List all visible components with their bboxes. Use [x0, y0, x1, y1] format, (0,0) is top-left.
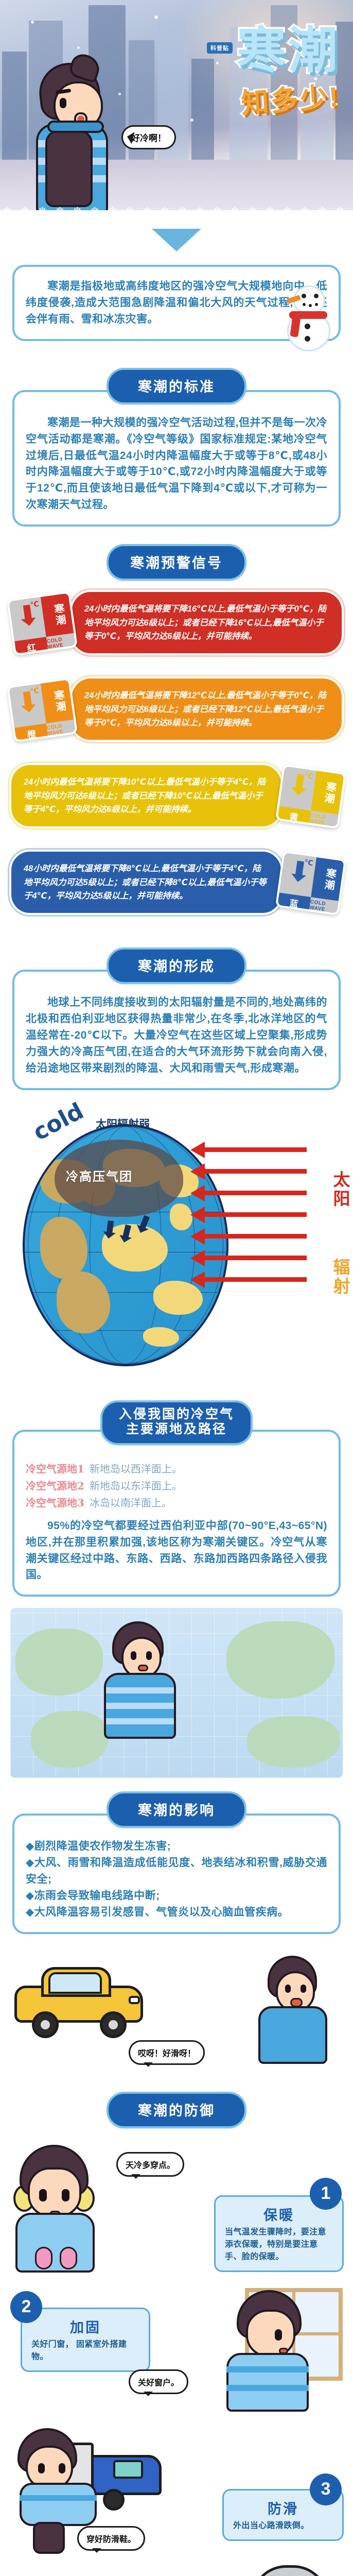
sign-unit: ℃	[30, 600, 40, 609]
cold-wave-sign-orange: ⬇℃ 寒潮 橙 COLD WAVE	[7, 677, 78, 742]
formation-card: 地球上不同纬度接收到的太阳辐射量是不同的,地处高纬的北极和西伯利亚地区获得热量非…	[12, 970, 341, 1090]
cold-high-pressure-label: 冷高压气团	[66, 1166, 133, 1184]
warning-red: ⬇℃ 寒潮 红 COLD WAVE 24小时内最低气温将要下降16℃以上,最低气…	[9, 590, 344, 667]
down-arrow-icon	[152, 229, 201, 251]
snowflake-dot	[216, 62, 219, 64]
hero-speech-bubble: 好冷啊！	[121, 125, 176, 149]
defense-section: 寒潮的防御	[12, 2092, 341, 2128]
sources-title-line2: 主要源地及路径	[126, 1422, 227, 1436]
cold-wave-sign-blue: ⬇℃ 寒潮 蓝 COLD WAVE	[275, 851, 346, 916]
infographic-page: 好冷啊！ 科普贴 寒潮 知多少! ❄❄ ❄❄ ❄❄ ❄❄ ❄❄ ❄❄ ❄❄ ❄❄…	[0, 0, 353, 2576]
standard-section: 寒潮的标准 寒潮是一种大规模的强冷空气活动过程,但并不是每一次冷空气活动都是寒潮…	[12, 368, 341, 527]
hero-title-group: 科普贴 寒潮 知多少!	[237, 27, 340, 118]
warning-text-orange: 24小时内最低气温将要下降12℃以上,最低气温小于等于0℃，陆地平均风力可达6级…	[70, 676, 344, 742]
defense-number-3: 3	[310, 2473, 342, 2505]
bullet-icon: ◆	[26, 1890, 34, 1902]
intro-text: 寒潮是指极地或高纬度地区的强冷空气大规模地向中、低纬度侵袭,造成大范围急剧降温和…	[26, 278, 327, 328]
defense-number-1: 1	[310, 2178, 342, 2210]
slipping-person	[254, 1956, 331, 2064]
defense-item-2: 2 加固 关好门窗， 固紧室外搭建物。 关好窗户。	[0, 2286, 353, 2415]
impact-item: ◆冻雨会导致输电线路中断;	[26, 1888, 327, 1904]
defense-speech-text-2: 关好窗户。	[138, 2379, 179, 2387]
path-map-illustration	[10, 1608, 343, 1778]
car-scene-speech-text: 哎呀！好滑呀！	[138, 2049, 196, 2058]
source-item: 冷空气源地3 冰岛以南洋面上。	[26, 1495, 327, 1510]
defense-number-2: 2	[10, 2291, 42, 2323]
source-value: 冰岛以南洋面上。	[90, 1495, 172, 1510]
snowflake-dot	[31, 21, 34, 24]
defense-item-4: 我身体不好，就不出门了。 4 防病 老弱病人， 特别是心血管病人、哮喘病人等对气…	[0, 2562, 353, 2576]
radiation-label: 辐射	[331, 1258, 349, 1296]
sun-label: 太阳	[331, 1171, 349, 1209]
map-boy-character	[101, 1621, 178, 1740]
impact-item: ◆大风、雨雪和降温造成低能见度、地表结冰和积雪,威胁交通安全;	[26, 1855, 327, 1888]
building	[2, 52, 27, 160]
sign-unit: ℃	[30, 686, 40, 696]
car-slip-scene: 哎呀！好滑呀！	[0, 1942, 353, 2071]
earth-globe: 冷高压气团 ⬇ ⬇ ⬇	[23, 1124, 228, 1366]
bullet-icon: ◆	[26, 1840, 34, 1852]
source-key: 冷空气源地3	[26, 1495, 84, 1510]
source-value: 新地岛以东洋面上。	[90, 1478, 182, 1493]
sign-label: 寒潮	[41, 592, 78, 637]
warning-text-yellow: 24小时内最低气温将要下降10℃以上,最低气温小于等于4℃，陆地平均风力可达6级…	[9, 763, 283, 828]
solar-radiation-rays	[204, 1130, 307, 1299]
defense-item-3: 穿好防滑鞋。 3 防滑 外出当心路滑跌倒。	[0, 2424, 353, 2553]
defense-speech-3: 穿好防滑鞋。	[77, 2526, 145, 2551]
cold-wave-sign-red: ⬇℃ 寒潮 红 COLD WAVE	[7, 591, 78, 656]
defense-speech-text-1: 天冷多穿点。	[126, 2161, 175, 2170]
defense-title: 寒潮的防御	[107, 2092, 246, 2128]
formation-section: 寒潮的形成 地球上不同纬度接收到的太阳辐射量是不同的,地处高纬的北极和西伯利亚地…	[12, 947, 341, 1090]
defense-item-1: 天冷多穿点。 1 保暖 当气温发生骤降时，要注意添衣保暖，特别是要注意手、脸的保…	[0, 2138, 353, 2277]
defense-speech-text-3: 穿好防滑鞋。	[86, 2535, 136, 2544]
bullet-icon: ◆	[26, 1857, 34, 1869]
warning-yellow: ⬇℃ 寒潮 黄 COLD WAVE 24小时内最低气温将要下降10℃以上,最低气…	[9, 763, 344, 840]
intro-section: 寒潮是指极地或高纬度地区的强冷空气大规模地向中、低纬度侵袭,造成大范围急剧降温和…	[12, 265, 341, 341]
hero-banner: 好冷啊！ 科普贴 寒潮 知多少!	[0, 0, 353, 222]
sources-section: 入侵我国的冷空气 主要源地及路径 冷空气源地1 新地岛以西洋面上。 冷空气源地2…	[12, 1400, 341, 1597]
defense-speech-1: 天冷多穿点。	[116, 2152, 184, 2177]
source-key: 冷空气源地2	[26, 1478, 84, 1493]
hero-title-main: 寒潮	[237, 27, 340, 74]
sign-label: 寒潮	[41, 679, 78, 723]
snowflake-dot	[190, 118, 193, 122]
source-value: 新地岛以西洋面上。	[90, 1461, 182, 1476]
impact-text: 大风降温容易引发感冒、气管炎以及心脑血管疾病。	[34, 1906, 289, 1918]
defense-card-2: 加固 关好门窗， 固紧室外搭建物。	[21, 2308, 150, 2372]
sign-label: 寒潮	[311, 771, 346, 815]
sign-unit: ℃	[304, 858, 313, 868]
building	[191, 59, 214, 160]
defense-char-4	[226, 2565, 345, 2576]
backpack	[45, 130, 93, 207]
warning-text-red: 24小时内最低气温将要下降16℃以上,最低气温小于等于0℃，陆地平均风力可达6级…	[70, 590, 344, 655]
standard-text: 寒潮是一种大规模的强冷空气活动过程,但并不是每一次冷空气活动都是寒潮。《冷空气等…	[26, 415, 327, 513]
scarf	[47, 121, 104, 133]
impact-item: ◆大风降温容易引发感冒、气管炎以及心脑血管疾病。	[26, 1904, 327, 1921]
formation-title: 寒潮的形成	[107, 947, 246, 984]
defense-card-title-2: 加固	[31, 2316, 139, 2336]
car-illustration	[14, 1967, 143, 2034]
defense-card-body-3: 外出当心路滑跌倒。	[233, 2520, 333, 2532]
sources-card: 冷空气源地1 新地岛以西洋面上。 冷空气源地2 新地岛以东洋面上。 冷空气源地3…	[12, 1430, 341, 1597]
globe-diagram: cold 太阳辐射弱 冷高压气团 ⬇ ⬇ ⬇	[0, 1104, 353, 1397]
defense-card-body-1: 当气温发生骤降时，要注意添衣保暖，特别是要注意手、脸的保暖。	[225, 2226, 333, 2263]
sources-text: 95%的冷空气都要经过西伯利亚中部(70~90°E,43~65°N)地区,并在那…	[26, 1518, 327, 1584]
bullet-icon: ◆	[26, 1906, 34, 1918]
warning-text-blue: 48小时内最低气温将要下降8℃以上,最低气温小于等于4℃，陆地平均风力可达5级以…	[9, 850, 283, 915]
impact-text: 冻雨会导致输电线路中断;	[34, 1890, 160, 1902]
hero-badge: 科普贴	[207, 42, 233, 54]
formation-text: 地球上不同纬度接收到的太阳辐射量是不同的,地处高纬的北极和西伯利亚地区获得热量非…	[26, 994, 327, 1077]
defense-speech-2: 关好窗户。	[129, 2369, 188, 2394]
boy-character	[30, 63, 122, 217]
source-key: 冷空气源地1	[26, 1461, 84, 1476]
source-item: 冷空气源地1 新地岛以西洋面上。	[26, 1461, 327, 1476]
snowflake-dot	[154, 15, 158, 19]
sources-title: 入侵我国的冷空气 主要源地及路径	[100, 1400, 253, 1445]
impacts-card: ◆剧烈降温使农作物发生冻害; ◆大风、雨雪和降温造成低能见度、地表结冰和积雪,威…	[12, 1814, 341, 1934]
warning-blue: ⬇℃ 寒潮 蓝 COLD WAVE 48小时内最低气温将要下降8℃以上,最低气温…	[9, 850, 344, 927]
impacts-title: 寒潮的影响	[107, 1791, 246, 1828]
impact-text: 剧烈降温使农作物发生冻害;	[34, 1840, 171, 1852]
hero-title-sub: 知多少!	[235, 74, 341, 122]
standard-title: 寒潮的标准	[107, 368, 246, 404]
defense-card-body-2: 关好门窗， 固紧室外搭建物。	[31, 2338, 139, 2363]
standard-card: 寒潮是一种大规模的强冷空气活动过程,但并不是每一次冷空气活动都是寒潮。《冷空气等…	[12, 390, 341, 527]
warnings-section: 寒潮预警信号	[12, 544, 341, 581]
defense-char-2	[214, 2288, 343, 2412]
sources-title-line1: 入侵我国的冷空气	[119, 1407, 234, 1421]
hero-speech-text: 好冷啊！	[131, 133, 166, 143]
cold-high-pressure-mass: 冷高压气团	[55, 1140, 183, 1217]
impact-item: ◆剧烈降温使农作物发生冻害;	[26, 1838, 327, 1855]
cold-wave-sign-yellow: ⬇℃ 寒潮 黄 COLD WAVE	[275, 764, 346, 829]
snow-edge-divider: ❄❄ ❄❄ ❄❄ ❄❄ ❄❄ ❄❄ ❄❄ ❄❄ ❄❄ ❄❄	[0, 210, 353, 222]
source-item: 冷空气源地2 新地岛以东洋面上。	[26, 1478, 327, 1493]
eye	[60, 98, 66, 108]
sign-label: 寒潮	[311, 857, 346, 902]
warning-orange: ⬇℃ 寒潮 橙 COLD WAVE 24小时内最低气温将要下降12℃以上,最低气…	[9, 676, 344, 754]
car-scene-speech-bubble: 哎呀！好滑呀！	[129, 2040, 205, 2065]
impact-text: 大风、雨雪和降温造成低能见度、地表结冰和积雪,威胁交通安全;	[26, 1857, 327, 1885]
warnings-title: 寒潮预警信号	[107, 544, 246, 581]
impacts-section: 寒潮的影响 ◆剧烈降温使农作物发生冻害; ◆大风、雨雪和降温造成低能见度、地表结…	[12, 1791, 341, 1934]
defense-char-1	[10, 2145, 118, 2274]
sign-unit: ℃	[304, 771, 313, 781]
snowman-illustration	[284, 285, 333, 353]
snowflake-dot	[77, 46, 80, 49]
